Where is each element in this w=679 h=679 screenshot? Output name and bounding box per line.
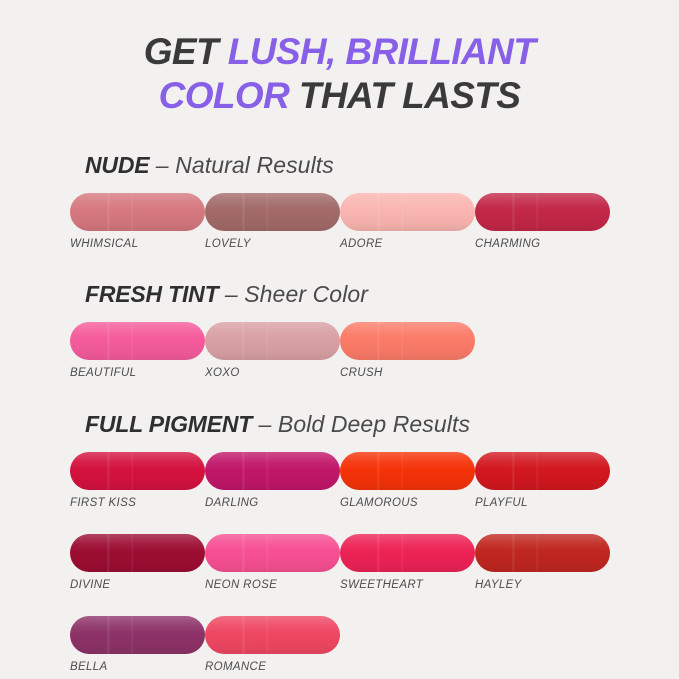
swatch-rows-nude: WHIMSICAL LOVELY ADORE CHARMING <box>0 193 679 250</box>
swatch-cell[interactable]: ROMANCE <box>205 616 340 673</box>
color-swatch[interactable] <box>340 452 475 490</box>
color-swatch[interactable] <box>70 322 205 360</box>
swatch-label: DARLING <box>205 497 340 509</box>
section-heading-nude: NUDE – Natural Results <box>85 152 679 179</box>
color-swatch[interactable] <box>340 322 475 360</box>
swatch-label: BELLA <box>70 661 205 673</box>
swatch-label: FIRST KISS <box>70 497 205 509</box>
swatch-cell[interactable]: FIRST KISS <box>70 452 205 509</box>
swatch-row: WHIMSICAL LOVELY ADORE CHARMING <box>70 193 679 250</box>
swatch-cell[interactable]: DIVINE <box>70 534 205 591</box>
page-title-line-2: COLOR THAT LASTS <box>0 74 679 118</box>
swatch-label: XOXO <box>205 367 340 379</box>
page-title-line-1: GET LUSH, BRILLIANT <box>0 30 679 74</box>
swatch-label: GLAMOROUS <box>340 497 475 509</box>
color-swatch[interactable] <box>205 322 340 360</box>
section-title-fresh-tint: FRESH TINT <box>85 281 218 307</box>
color-swatch[interactable] <box>340 534 475 572</box>
page-title: GET LUSH, BRILLIANT COLOR THAT LASTS <box>0 30 679 118</box>
color-swatch[interactable] <box>70 193 205 231</box>
section-title-full-pigment: FULL PIGMENT <box>85 411 252 437</box>
swatch-label: NEON ROSE <box>205 579 340 591</box>
color-swatch[interactable] <box>475 534 610 572</box>
swatch-cell[interactable]: BEAUTIFUL <box>70 322 205 379</box>
row-spacer <box>70 509 679 534</box>
swatch-rows-fresh-tint: BEAUTIFUL XOXO CRUSH <box>0 322 679 379</box>
swatch-rows-full-pigment: FIRST KISS DARLING GLAMOROUS PLAYFUL <box>0 452 679 673</box>
swatch-cell[interactable]: BELLA <box>70 616 205 673</box>
color-swatch[interactable] <box>340 193 475 231</box>
section-full-pigment: FULL PIGMENT – Bold Deep Results FIRST K… <box>0 411 679 673</box>
color-swatch[interactable] <box>205 534 340 572</box>
section-nude: NUDE – Natural Results WHIMSICAL LOVELY … <box>0 152 679 250</box>
swatch-row: BELLA ROMANCE <box>70 616 679 673</box>
swatch-label: PLAYFUL <box>475 497 610 509</box>
swatch-label: ADORE <box>340 238 475 250</box>
swatch-cell[interactable]: XOXO <box>205 322 340 379</box>
row-spacer <box>70 591 679 616</box>
page-title-segment-get: GET <box>144 31 228 72</box>
color-swatch[interactable] <box>205 452 340 490</box>
swatch-label: CHARMING <box>475 238 610 250</box>
swatch-cell[interactable]: GLAMOROUS <box>340 452 475 509</box>
swatch-label: LOVELY <box>205 238 340 250</box>
section-subtitle-nude: – Natural Results <box>156 152 334 178</box>
section-fresh-tint: FRESH TINT – Sheer Color BEAUTIFUL XOXO … <box>0 281 679 379</box>
page-title-segment-color: COLOR <box>159 75 290 116</box>
color-swatch[interactable] <box>70 452 205 490</box>
swatch-cell[interactable]: DARLING <box>205 452 340 509</box>
color-swatch[interactable] <box>70 534 205 572</box>
section-subtitle-full-pigment: – Bold Deep Results <box>259 411 471 437</box>
swatch-row: DIVINE NEON ROSE SWEETHEART HAYLEY <box>70 534 679 591</box>
swatch-row: BEAUTIFUL XOXO CRUSH <box>70 322 679 379</box>
swatch-label: HAYLEY <box>475 579 610 591</box>
swatch-label: ROMANCE <box>205 661 340 673</box>
swatch-cell[interactable]: ADORE <box>340 193 475 250</box>
swatch-label: SWEETHEART <box>340 579 475 591</box>
section-title-nude: NUDE <box>85 152 149 178</box>
swatch-label: DIVINE <box>70 579 205 591</box>
swatch-cell[interactable]: LOVELY <box>205 193 340 250</box>
section-subtitle-fresh-tint: – Sheer Color <box>225 281 368 307</box>
swatch-cell[interactable]: CHARMING <box>475 193 610 250</box>
color-swatch[interactable] <box>475 452 610 490</box>
section-heading-fresh-tint: FRESH TINT – Sheer Color <box>85 281 679 308</box>
color-swatch[interactable] <box>205 616 340 654</box>
page-title-segment-that-lasts: THAT LASTS <box>289 75 520 116</box>
swatch-label: CRUSH <box>340 367 475 379</box>
swatch-label: WHIMSICAL <box>70 238 205 250</box>
swatch-cell[interactable]: SWEETHEART <box>340 534 475 591</box>
section-heading-full-pigment: FULL PIGMENT – Bold Deep Results <box>85 411 679 438</box>
page-title-segment-lush-brilliant: LUSH, BRILLIANT <box>228 31 536 72</box>
color-swatch[interactable] <box>475 193 610 231</box>
swatch-cell[interactable]: NEON ROSE <box>205 534 340 591</box>
swatch-cell[interactable]: CRUSH <box>340 322 475 379</box>
swatch-cell[interactable]: HAYLEY <box>475 534 610 591</box>
color-swatch[interactable] <box>70 616 205 654</box>
swatch-cell[interactable]: WHIMSICAL <box>70 193 205 250</box>
color-swatch[interactable] <box>205 193 340 231</box>
shade-chart-page: GET LUSH, BRILLIANT COLOR THAT LASTS NUD… <box>0 0 679 679</box>
swatch-label: BEAUTIFUL <box>70 367 205 379</box>
swatch-cell[interactable]: PLAYFUL <box>475 452 610 509</box>
swatch-row: FIRST KISS DARLING GLAMOROUS PLAYFUL <box>70 452 679 509</box>
